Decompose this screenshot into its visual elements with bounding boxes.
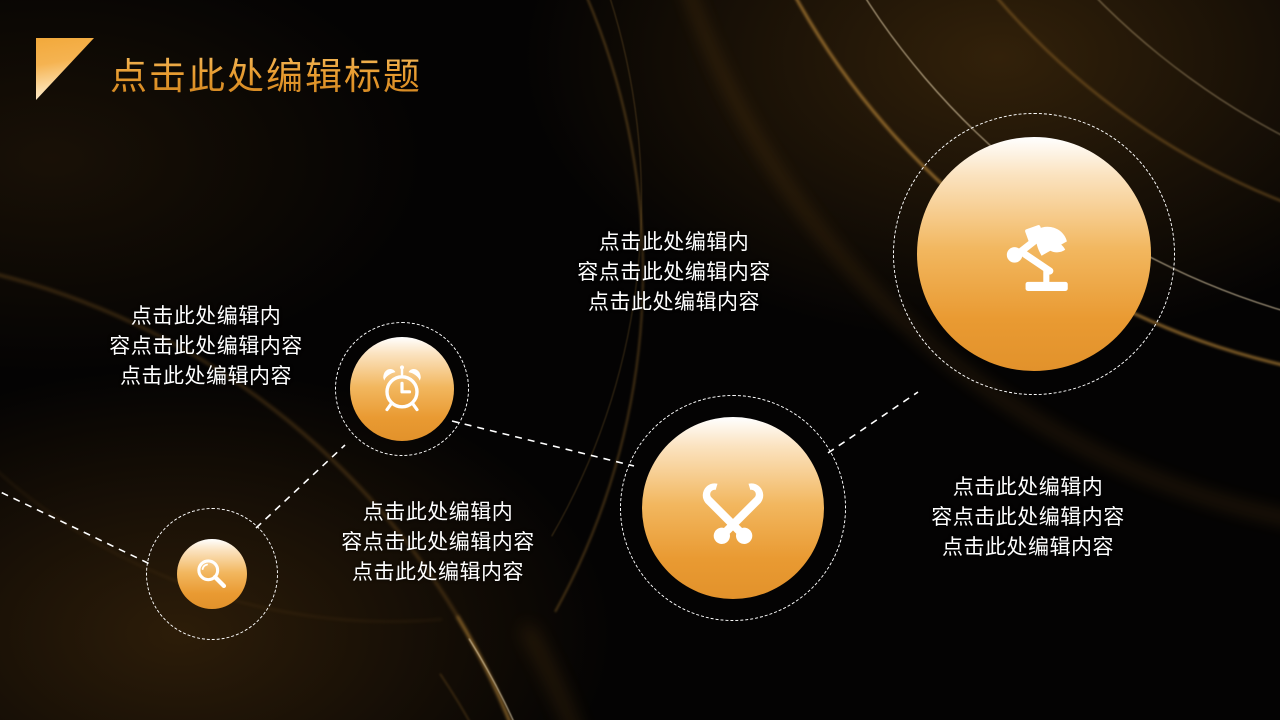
node-time-disc[interactable] xyxy=(350,337,454,441)
node-search-disc[interactable] xyxy=(177,539,247,609)
node-idea[interactable] xyxy=(893,113,1175,395)
node-time-label: 点击此处编辑内 容点击此处编辑内容 点击此处编辑内容 xyxy=(60,302,352,391)
slide-canvas: 点击此处编辑标题 xyxy=(0,0,1280,720)
triangle-marker-icon xyxy=(36,38,94,100)
node-idea-disc[interactable] xyxy=(917,137,1151,371)
alarm-clock-icon xyxy=(372,359,432,419)
node-time[interactable] xyxy=(335,322,469,456)
page-title: 点击此处编辑标题 xyxy=(110,46,422,100)
node-tools-label: 点击此处编辑内 容点击此处编辑内容 点击此处编辑内容 xyxy=(292,498,584,587)
node-search-label: 点击此处编辑内 容点击此处编辑内容 点击此处编辑内容 xyxy=(882,473,1174,562)
node-search[interactable] xyxy=(146,508,278,640)
node-tools[interactable] xyxy=(620,395,846,621)
crossed-wrenches-icon xyxy=(691,466,775,550)
connector-time-tools xyxy=(452,421,634,466)
node-tools-disc[interactable] xyxy=(642,417,824,599)
magnifier-icon xyxy=(192,554,232,594)
desk-lamp-icon xyxy=(980,200,1088,308)
connector-offscreen-search xyxy=(0,487,152,565)
node-idea-top-label: 点击此处编辑内 容点击此处编辑内容 点击此处编辑内容 xyxy=(528,228,820,317)
